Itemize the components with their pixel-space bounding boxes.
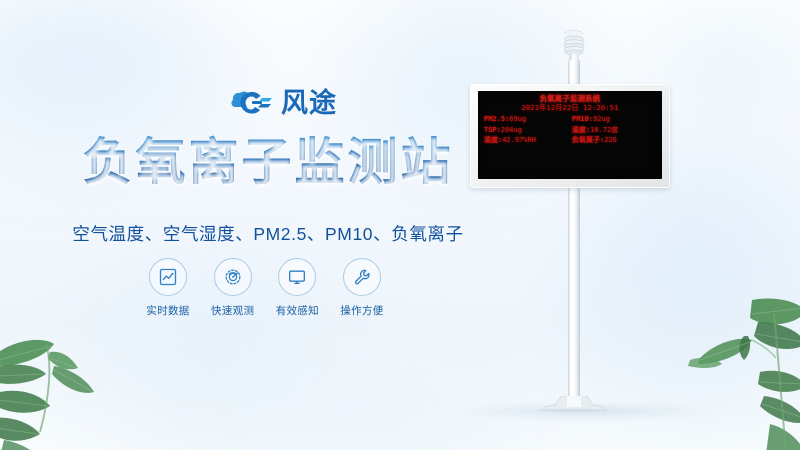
led-reading-value: 92ug xyxy=(593,115,610,123)
led-display-title: 负氧离子监测系统 xyxy=(484,94,656,103)
led-reading-pm10: PM10:92ug xyxy=(572,114,656,125)
led-reading-value: 42.97%RH xyxy=(502,136,536,144)
led-reading-label: PM10: xyxy=(572,115,593,123)
led-reading-label: 负氧离子: xyxy=(572,136,604,144)
feature-label: 操作方便 xyxy=(334,303,390,318)
page-title: 负氧离子监测站 xyxy=(0,134,536,192)
led-screen: 负氧离子监测系统 2021年12月22日 12:20:51 PM2.5:69ug… xyxy=(478,91,662,179)
radar-scan-icon xyxy=(214,258,252,296)
led-reading-pm25: PM2.5:69ug xyxy=(484,114,568,125)
led-readings-grid: PM2.5:69ug PM10:92ug TSP:204ug 温度:10.72度… xyxy=(484,114,656,146)
led-reading-humidity: 湿度:42.97%RH xyxy=(484,135,568,146)
monitor-icon xyxy=(278,258,316,296)
page-subtitle: 空气温度、空气湿度、PM2.5、PM10、负氧离子 xyxy=(0,221,536,246)
led-reading-value: 226 xyxy=(604,136,617,144)
led-reading-label: 湿度: xyxy=(484,136,502,144)
led-reading-negative-oxygen-ions: 负氧离子:226 xyxy=(572,135,656,146)
led-reading-value: 204ug xyxy=(501,126,522,134)
led-reading-label: PM2.5: xyxy=(484,115,509,123)
feature-label: 有效感知 xyxy=(269,303,325,318)
led-reading-temperature: 温度:10.72度 xyxy=(572,125,656,136)
led-display-panel[interactable]: 负氧离子监测系统 2021年12月22日 12:20:51 PM2.5:69ug… xyxy=(470,84,670,188)
feature-list: 实时数据 快速观测 有效感知 xyxy=(140,258,390,318)
led-reading-value: 10.72度 xyxy=(590,126,618,134)
led-reading-tsp: TSP:204ug xyxy=(484,125,568,136)
brand-logo: 风途 xyxy=(230,88,337,118)
promo-banner: 风途 负氧离子监测站 空气温度、空气湿度、PM2.5、PM10、负氧离子 实时数… xyxy=(0,0,800,450)
feature-item-effective-sensing[interactable]: 有效感知 xyxy=(269,258,325,318)
feature-label: 实时数据 xyxy=(140,303,196,318)
wrench-icon xyxy=(343,258,381,296)
cloud-g-logo-icon xyxy=(230,88,274,118)
led-display-datetime: 2021年12月22日 12:20:51 xyxy=(484,103,656,113)
feature-item-fast-observation[interactable]: 快速观测 xyxy=(205,258,261,318)
led-reading-label: TSP: xyxy=(484,126,501,134)
base-plate-icon xyxy=(531,396,617,412)
led-reading-label: 温度: xyxy=(572,126,590,134)
tropical-leaf-plant-icon xyxy=(0,322,134,450)
tropical-leaf-plant-icon xyxy=(686,296,800,450)
feature-item-realtime-data[interactable]: 实时数据 xyxy=(140,258,196,318)
feature-label: 快速观测 xyxy=(205,303,261,318)
brand-name: 风途 xyxy=(281,90,337,117)
feature-item-easy-operation[interactable]: 操作方便 xyxy=(334,258,390,318)
led-reading-value: 69ug xyxy=(509,115,526,123)
line-chart-icon xyxy=(149,258,187,296)
